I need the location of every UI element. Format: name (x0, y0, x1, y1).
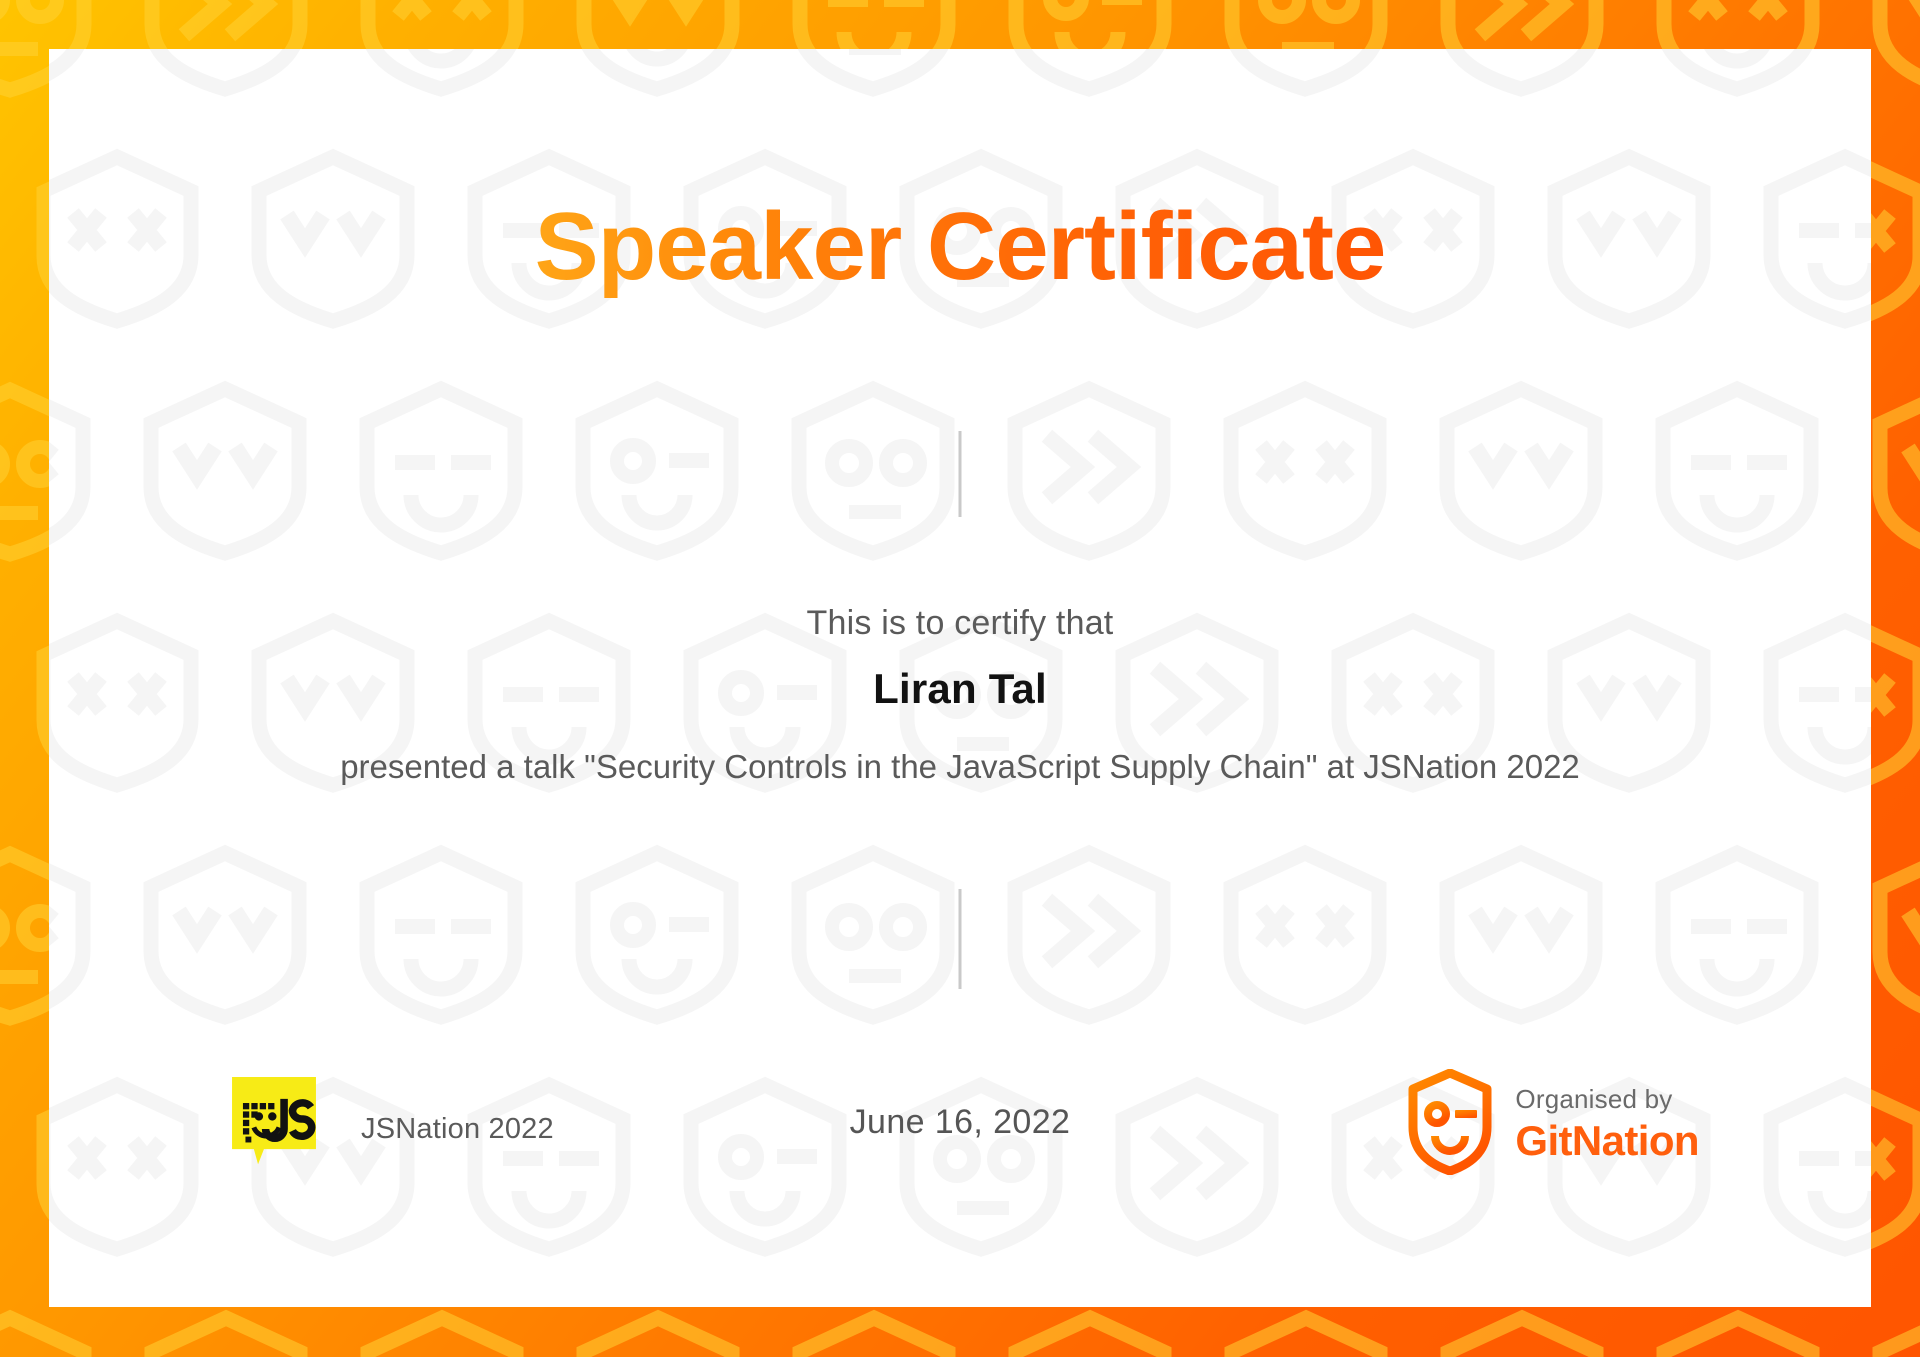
title-block: Speaker Certificate (49, 197, 1871, 298)
organised-by-label: Organised by (1515, 1084, 1699, 1115)
talk-description: presented a talk "Security Controls in t… (235, 745, 1685, 789)
organiser-name: GitNation (1515, 1117, 1699, 1165)
jsnation-logo-icon (227, 1077, 321, 1171)
certificate-stage: Speaker Certificate This is to certify t… (0, 0, 1920, 1357)
certificate-footer: JSNation 2022 June 16, 2022 (49, 1059, 1871, 1229)
event-brand: JSNation 2022 (227, 1077, 554, 1171)
certificate-card: Speaker Certificate This is to certify t… (49, 49, 1871, 1307)
certificate-body: This is to certify that Liran Tal presen… (210, 604, 1710, 789)
issue-date: June 16, 2022 (850, 1103, 1071, 1142)
divider-top (959, 431, 962, 517)
page-title: Speaker Certificate (535, 197, 1386, 298)
organiser-text-block: Organised by GitNation (1515, 1080, 1699, 1165)
event-name: JSNation 2022 (361, 1103, 554, 1146)
certify-line: This is to certify that (210, 604, 1710, 643)
divider-bottom (959, 889, 962, 989)
organiser-brand: Organised by GitNation (1407, 1069, 1699, 1175)
recipient-name: Liran Tal (210, 665, 1710, 713)
gitnation-shield-icon (1407, 1069, 1493, 1175)
